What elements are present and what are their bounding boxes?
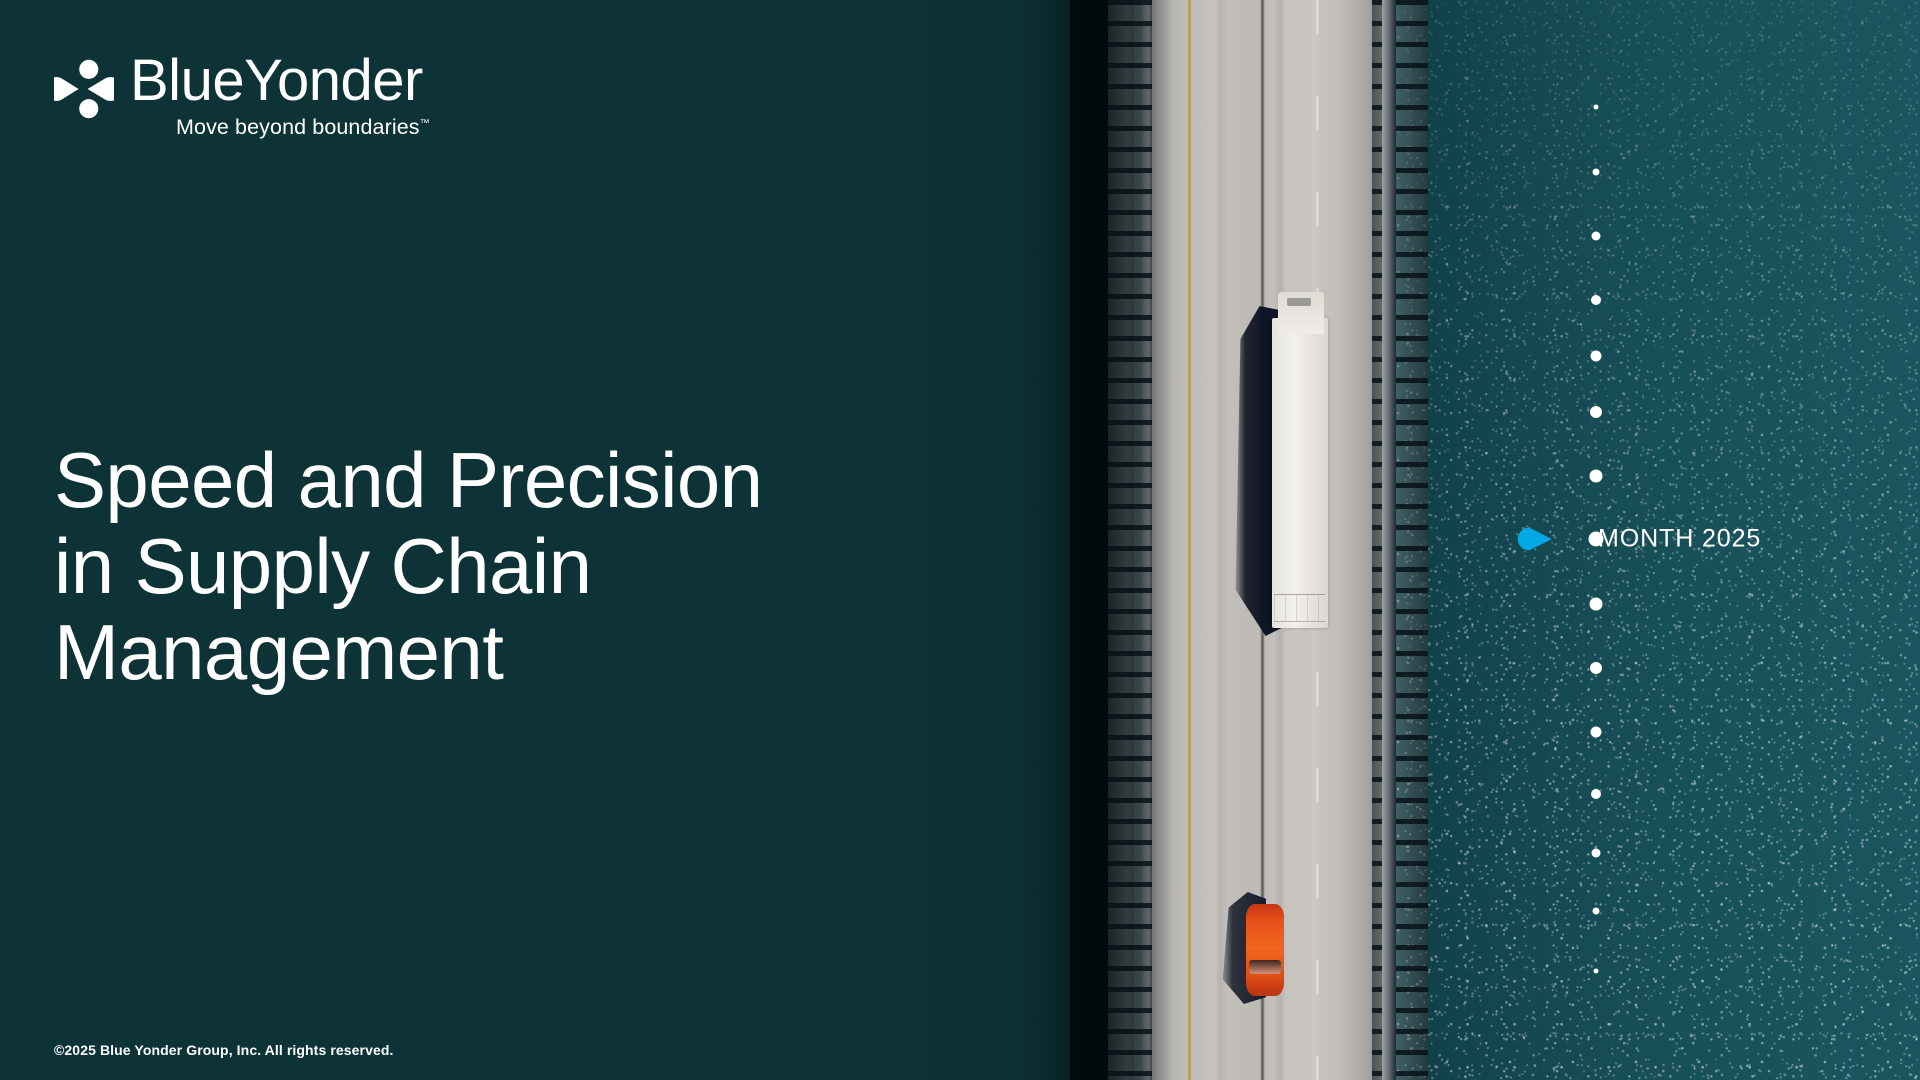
car-body xyxy=(1246,904,1284,996)
logo-text-block: BlueYonder xyxy=(130,52,423,110)
rail-dot xyxy=(1593,169,1600,176)
brand-logo: BlueYonder xyxy=(54,52,423,120)
page-title-line-2: in Supply Chain xyxy=(54,524,954,610)
blue-yonder-pinwheel-icon xyxy=(54,58,114,120)
page-title-line-1: Speed and Precision xyxy=(54,438,954,524)
rail-dot xyxy=(1591,295,1601,305)
semi-truck xyxy=(1232,292,1328,652)
date-label: MONTH 2025 xyxy=(1598,525,1761,554)
title-slide: BlueYonder Move beyond boundaries™ Speed… xyxy=(0,0,1920,1080)
truck-trailer xyxy=(1272,318,1328,628)
rail-dot xyxy=(1590,406,1602,418)
guardrail-left xyxy=(1108,0,1152,1080)
rail-dot xyxy=(1591,351,1602,362)
rail-dot xyxy=(1591,727,1602,738)
bridge-edge-right xyxy=(1382,0,1396,1080)
logo-tagline: Move beyond boundaries™ xyxy=(176,115,430,140)
rail-dot xyxy=(1592,232,1601,241)
trademark-mark: ™ xyxy=(420,118,430,129)
copyright-notice: ©2025 Blue Yonder Group, Inc. All rights… xyxy=(54,1042,394,1058)
guardrail-right xyxy=(1372,0,1428,1080)
rail-dot xyxy=(1590,662,1602,674)
lane-line-yellow xyxy=(1188,0,1191,1080)
rail-dot xyxy=(1593,908,1600,915)
rail-dot xyxy=(1590,598,1603,611)
page-title: Speed and Precision in Supply Chain Mana… xyxy=(54,438,954,695)
rail-dot xyxy=(1592,849,1601,858)
orange-car xyxy=(1218,892,1294,1008)
rail-dot xyxy=(1590,470,1603,483)
truck-cab xyxy=(1278,292,1324,334)
cyan-teardrop-pointer-icon xyxy=(1516,526,1552,552)
logo-wordmark: BlueYonder xyxy=(130,52,423,110)
rail-dot xyxy=(1591,789,1601,799)
page-title-line-3: Management xyxy=(54,610,954,696)
rail-dot xyxy=(1594,105,1599,110)
rail-dot xyxy=(1594,969,1599,974)
